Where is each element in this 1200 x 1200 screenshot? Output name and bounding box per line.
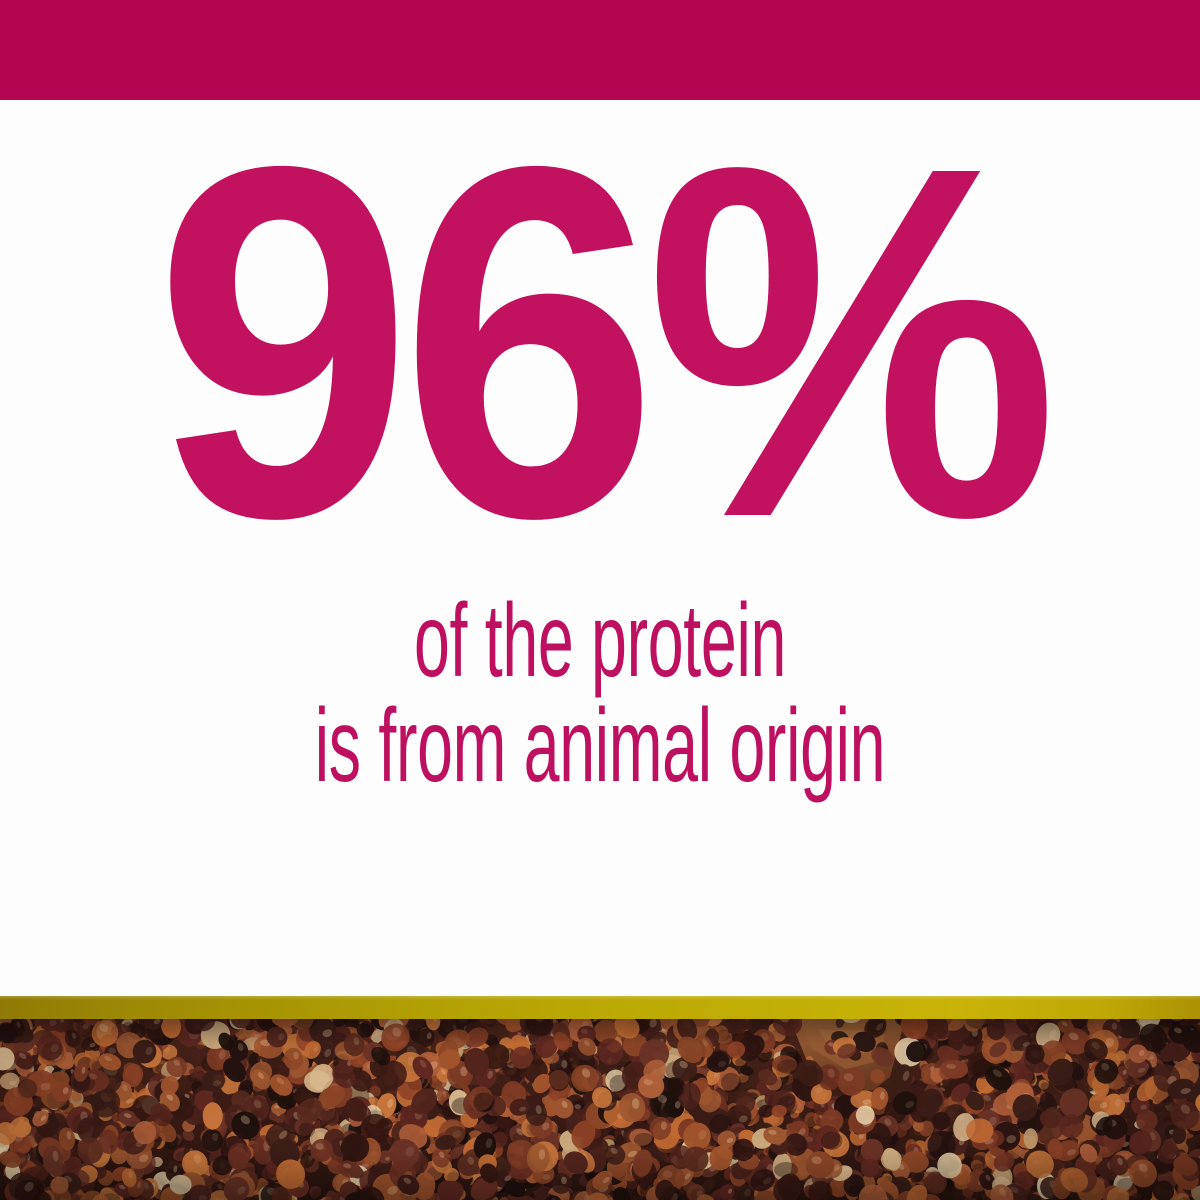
quinoa-seed-photo bbox=[0, 1019, 1200, 1200]
caption-line-2: is from animal origin bbox=[228, 697, 972, 796]
infographic-poster: 96% of the protein is from animal origin bbox=[0, 0, 1200, 1200]
caption-block: of the protein is from animal origin bbox=[0, 592, 1200, 796]
statistic-value: 96% bbox=[42, 152, 1158, 532]
quinoa-seed-photo-graphic bbox=[0, 1019, 1200, 1200]
caption-line-1: of the protein bbox=[228, 592, 972, 691]
gold-divider-band bbox=[0, 996, 1200, 1019]
statistic-block: 96% bbox=[0, 152, 1200, 532]
